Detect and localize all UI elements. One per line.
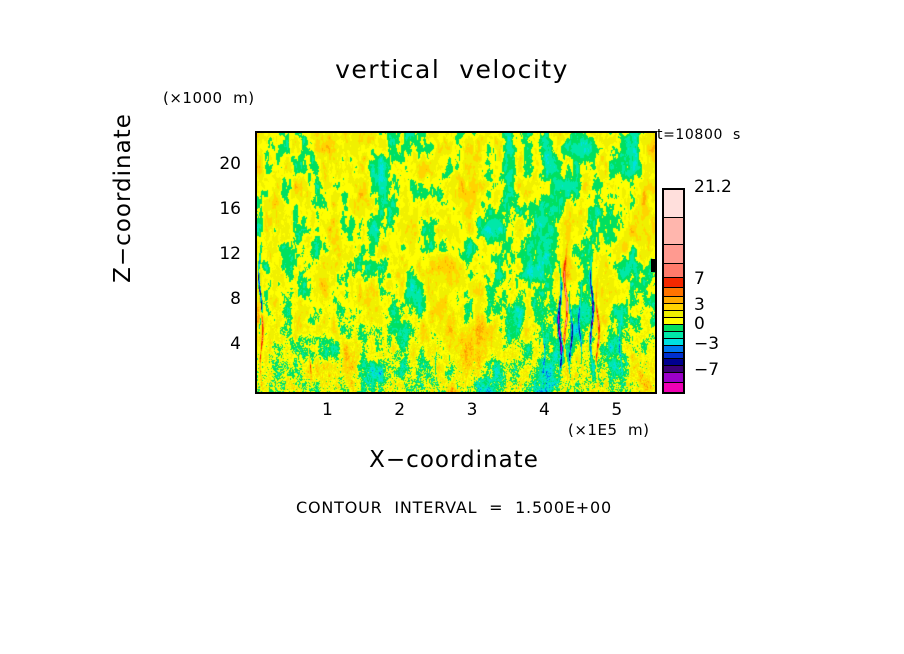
colorbar-band-0 [664, 190, 683, 218]
time-annotation: t=10800 s [657, 127, 741, 143]
colorbar-band-18 [664, 383, 683, 392]
colorbar-band-2 [664, 245, 683, 264]
colorbar-band-16 [664, 366, 683, 373]
x-tick-label-5: 5 [602, 400, 632, 420]
colorbar-band-7 [664, 304, 683, 311]
y-tick-label-20: 20 [207, 154, 241, 174]
colorbar [662, 188, 685, 394]
y-tick-label-4: 4 [207, 334, 241, 354]
colorbar-label-3: 3 [694, 295, 705, 315]
colorbar-label-0: 0 [694, 314, 705, 334]
y-axis-title: Z−coordinate [110, 68, 136, 328]
colorbar-band-11 [664, 332, 683, 339]
colorbar-band-14 [664, 353, 683, 360]
x-axis-unit-label: (×1E5 m) [568, 421, 650, 439]
colorbar-band-13 [664, 346, 683, 353]
colorbar-band-1 [664, 218, 683, 246]
x-tick-label-4: 4 [529, 400, 559, 420]
y-tick-label-12: 12 [207, 244, 241, 264]
y-tick-label-16: 16 [207, 199, 241, 219]
colorbar-label-neg3: −3 [694, 334, 719, 354]
x-tick-label-2: 2 [385, 400, 415, 420]
contour-plot-area [255, 131, 657, 394]
colorbar-band-5 [664, 288, 683, 298]
x-tick-label-3: 3 [457, 400, 487, 420]
colorbar-band-9 [664, 318, 683, 325]
colorbar-band-17 [664, 373, 683, 383]
y-tick-label-8: 8 [207, 289, 241, 309]
colorbar-band-3 [664, 264, 683, 278]
contour-interval-caption: CONTOUR INTERVAL = 1.500E+00 [255, 498, 653, 517]
colorbar-band-6 [664, 297, 683, 304]
colorbar-band-12 [664, 339, 683, 346]
colorbar-band-15 [664, 359, 683, 366]
colorbar-label-7: 7 [694, 269, 705, 289]
x-axis-title: X−coordinate [255, 447, 653, 473]
contour-field-canvas [257, 133, 655, 392]
right-edge-tick-mark [651, 259, 657, 272]
x-tick-label-1: 1 [312, 400, 342, 420]
colorbar-label-21_2: 21.2 [694, 177, 732, 197]
colorbar-band-4 [664, 278, 683, 288]
y-axis-unit-label: (×1000 m) [163, 89, 255, 107]
colorbar-label-neg7: −7 [694, 360, 719, 380]
colorbar-band-8 [664, 311, 683, 318]
colorbar-band-10 [664, 325, 683, 332]
